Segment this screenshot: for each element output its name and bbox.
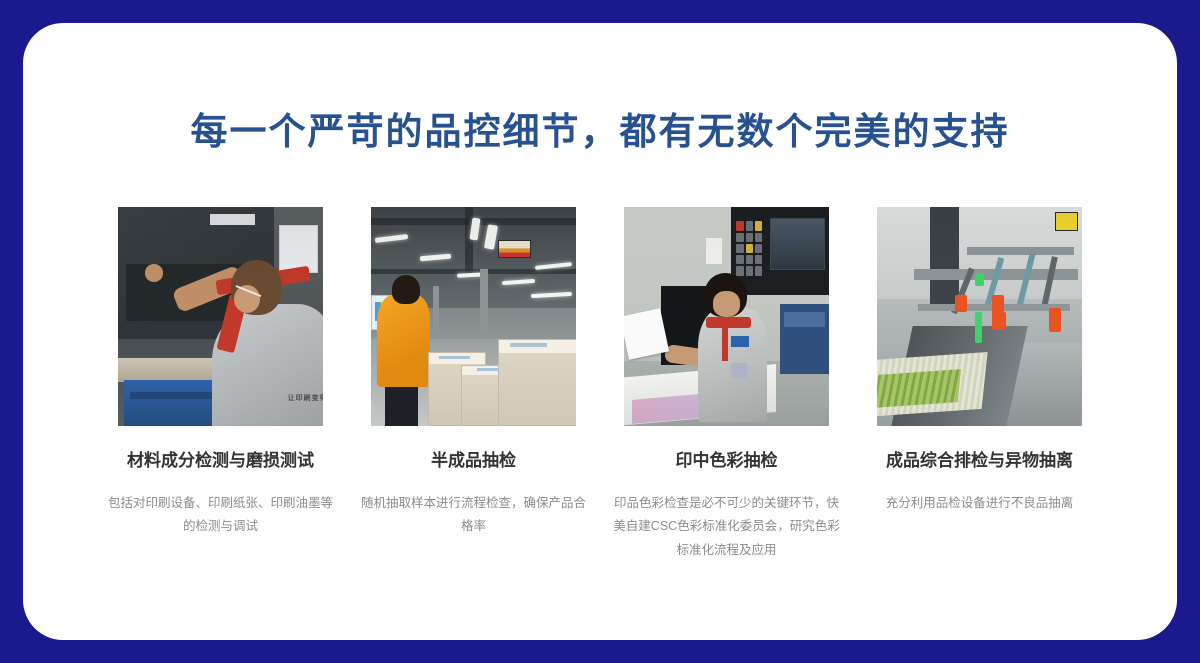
quality-control-cards-row: 让印刷变得 材料成分检测与磨损测试 包括对印刷设备、印刷纸张、印刷油墨等的检测与…: [23, 207, 1177, 561]
posted-note: [706, 238, 722, 264]
quality-card-description: 印品色彩检查是必不可少的关键环节，快美自建CSC色彩标准化委员会，研究色彩标准化…: [613, 492, 841, 561]
paper-stack-top: [429, 353, 484, 365]
quality-card-finished-inspection[interactable]: 成品综合排检与异物抽离 充分利用品检设备进行不良品抽离: [877, 207, 1082, 515]
operator-pocket: [731, 363, 747, 378]
console-button: [736, 233, 743, 242]
green-printed-sheets: [877, 369, 961, 407]
quality-card-title: 材料成分检测与磨损测试: [127, 450, 314, 472]
quality-card-title: 印中色彩抽检: [676, 450, 778, 472]
worker-hand-shape: [145, 264, 163, 282]
console-button: [736, 221, 743, 230]
page-canvas: 每一个严苛的品控细节，都有无数个完美的支持 让印: [23, 23, 1177, 640]
worker-head-shape: [392, 275, 421, 303]
machine-frame-bar: [967, 247, 1074, 256]
overhead-sign-board: [498, 240, 531, 258]
warning-label: [1055, 212, 1078, 232]
console-button: [755, 221, 762, 230]
operator-badge: [731, 336, 749, 347]
machine-label-sticker: [279, 225, 318, 273]
quality-card-material-testing[interactable]: 让印刷变得 材料成分检测与磨损测试 包括对印刷设备、印刷纸张、印刷油墨等的检测与…: [118, 207, 323, 538]
orange-clamp: [1049, 308, 1061, 332]
console-button: [746, 266, 753, 275]
console-button: [746, 233, 753, 242]
quality-card-title: 成品综合排检与异物抽离: [886, 450, 1073, 472]
quality-card-semifinished-sampling[interactable]: 半成品抽检 随机抽取样本进行流程检查，确保产品合格率: [371, 207, 576, 538]
finished-goods-inspection-photo: [877, 207, 1082, 426]
console-button: [755, 233, 762, 242]
console-screen: [770, 218, 825, 271]
console-button: [746, 244, 753, 253]
worker-legs-shape: [385, 382, 418, 426]
console-button: [736, 266, 743, 275]
operator-placket-shape: [722, 321, 727, 360]
green-guide-marker: [975, 312, 981, 343]
quality-card-description: 充分利用品检设备进行不良品抽离: [866, 492, 1094, 515]
page-frame: 每一个严苛的品控细节，都有无数个完美的支持 让印: [0, 0, 1200, 663]
console-button: [755, 255, 762, 264]
console-button: [746, 255, 753, 264]
warehouse-column: [433, 286, 439, 330]
stack-marking: [510, 343, 547, 347]
machine-dark-column: [930, 207, 959, 308]
orange-clamp: [992, 312, 1006, 330]
green-guide-marker: [975, 273, 983, 286]
console-button-grid: [736, 221, 762, 275]
console-button: [736, 244, 743, 253]
crate-slat: [130, 392, 213, 399]
console-button: [746, 221, 753, 230]
warehouse-column: [480, 269, 488, 330]
press-console-shape: [731, 207, 829, 295]
worker-orange-jacket-shape: [377, 295, 430, 387]
console-button: [755, 244, 762, 253]
blue-parts-rack-shape: [780, 304, 829, 374]
machine-top-label: [210, 214, 255, 225]
console-button: [736, 255, 743, 264]
operator-head-shape: [704, 273, 747, 317]
quality-card-title: 半成品抽检: [431, 450, 516, 472]
quality-card-description: 包括对印刷设备、印刷纸张、印刷油墨等的检测与调试: [107, 492, 335, 538]
quality-card-color-sampling[interactable]: 印中色彩抽检 印品色彩检查是必不可少的关键环节，快美自建CSC色彩标准化委员会，…: [624, 207, 829, 561]
page-title: 每一个严苛的品控细节，都有无数个完美的支持: [23, 109, 1177, 155]
quality-card-description: 随机抽取样本进行流程检查，确保产品合格率: [360, 492, 588, 538]
inprint-color-sampling-photo: [624, 207, 829, 426]
shirt-print-text: 让印刷变得: [288, 393, 323, 403]
console-button: [755, 266, 762, 275]
operator-collar-shape: [706, 317, 751, 328]
semifinished-sampling-photo: [371, 207, 576, 426]
material-composition-testing-photo: 让印刷变得: [118, 207, 323, 426]
blue-crate-shape: [124, 380, 218, 426]
paper-stack: [498, 339, 576, 427]
stack-marking: [439, 356, 469, 359]
orange-clamp: [955, 295, 967, 313]
